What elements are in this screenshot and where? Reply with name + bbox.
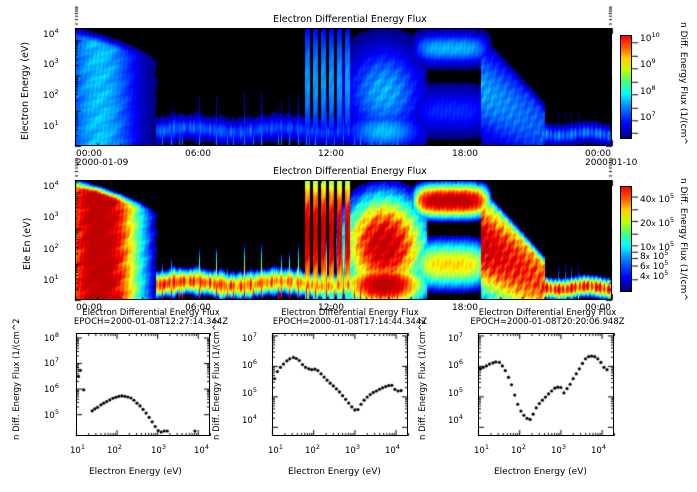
- middle-colorbar: [620, 186, 632, 292]
- top-ytick-1: 101: [43, 119, 59, 132]
- top-xtick-1: 06:00: [185, 149, 211, 159]
- figure-canvas: Electron Differential Energy Flux Electr…: [0, 0, 697, 492]
- sp2-xtick-3: 103: [345, 443, 360, 456]
- mid-ytick-4: 104: [43, 179, 59, 192]
- sp1-xtick-2: 102: [107, 443, 122, 456]
- top-axes-frame: [75, 28, 612, 146]
- sp2-ytick-5: 105: [242, 386, 257, 399]
- sp3-xtick-4: 104: [591, 443, 606, 456]
- spectrum-3-ylabel: n Diff. Energy Flux (1/(cm^2: [418, 319, 428, 440]
- mid-cbar-tick-4: 4x 105: [640, 269, 668, 282]
- sp3-ytick-7: 107: [448, 331, 463, 344]
- top-ytick-3: 103: [43, 57, 59, 70]
- sp1-ytick-7: 107: [44, 356, 59, 369]
- top-cbar-tick-8: 108: [640, 84, 656, 97]
- top-colorbar: [620, 35, 632, 139]
- top-ytick-2: 102: [43, 88, 59, 101]
- middle-colorbar-label: n Diff. Energy Flux (1/(cm^: [678, 178, 688, 301]
- sp1-ytick-6: 106: [44, 382, 59, 395]
- spectrum-2-epoch: EPOCH=2000-01-08T17:14:44.344Z: [255, 317, 445, 327]
- sp2-ytick-4: 104: [242, 413, 257, 426]
- sp2-xtick-1: 101: [268, 443, 283, 456]
- spectrum-3-axes[interactable]: [478, 333, 614, 436]
- spectrum-1-xlabel: Electron Energy (eV): [89, 467, 182, 477]
- top-ylabel: Electron Energy (eV): [20, 42, 31, 140]
- spectrum-1-ylabel: n Diff. Energy Flux (1/(cm^2: [12, 319, 22, 440]
- sp3-xtick-1: 101: [474, 443, 489, 456]
- sp1-ytick-8: 108: [44, 331, 59, 344]
- middle-axes-frame: [75, 180, 612, 300]
- sp2-xtick-4: 104: [385, 443, 400, 456]
- top-cbar-tick-9: 109: [640, 57, 656, 70]
- mid-cbar-tick-20: 20x 105: [640, 216, 674, 229]
- mid-ytick-2: 102: [43, 242, 59, 255]
- top-ytick-4: 104: [43, 27, 59, 40]
- sp2-xtick-2: 102: [305, 443, 320, 456]
- sp3-xtick-2: 102: [511, 443, 526, 456]
- sp3-xtick-3: 103: [551, 443, 566, 456]
- top-cbar-tick-10: 1010: [640, 31, 660, 44]
- sp2-ytick-7: 107: [242, 331, 257, 344]
- mid-ytick-1: 101: [43, 273, 59, 286]
- sp2-ytick-6: 106: [242, 358, 257, 371]
- spectrum-3-epoch: EPOCH=2000-01-08T20:20:06.948Z: [450, 317, 645, 327]
- middle-panel-title: Electron Differential Energy Flux: [230, 166, 470, 177]
- sp1-xtick-4: 104: [194, 443, 209, 456]
- top-xdate-left: 2000-01-09: [76, 158, 128, 168]
- top-colorbar-label: n Diff. Energy Flux (1/(cm^: [678, 22, 688, 145]
- sp1-xtick-3: 103: [151, 443, 166, 456]
- sp3-ytick-6: 106: [448, 358, 463, 371]
- middle-ylabel: Ele En (eV): [22, 218, 33, 270]
- sp3-ytick-4: 104: [448, 413, 463, 426]
- sp3-ytick-5: 105: [448, 386, 463, 399]
- top-xdate-right: 2000-01-10: [585, 158, 637, 168]
- mid-cbar-tick-40: 40x 105: [640, 192, 674, 205]
- mid-ytick-3: 103: [43, 210, 59, 223]
- spectrum-3-xlabel: Electron Energy (eV): [494, 467, 587, 477]
- top-panel-title: Electron Differential Energy Flux: [230, 14, 470, 25]
- spectrum-1-axes[interactable]: [76, 333, 210, 436]
- sp1-ytick-5: 105: [44, 408, 59, 421]
- spectrum-2-axes[interactable]: [272, 333, 408, 436]
- top-xtick-2: 12:00: [318, 149, 344, 159]
- sp1-xtick-1: 101: [70, 443, 85, 456]
- top-cbar-tick-7: 107: [640, 110, 656, 123]
- spectrum-2-xlabel: Electron Energy (eV): [288, 467, 381, 477]
- spectrum-2-ylabel: n Diff. Energy Flux (1/(cm^2: [212, 319, 222, 440]
- top-xtick-3: 18:00: [452, 149, 478, 159]
